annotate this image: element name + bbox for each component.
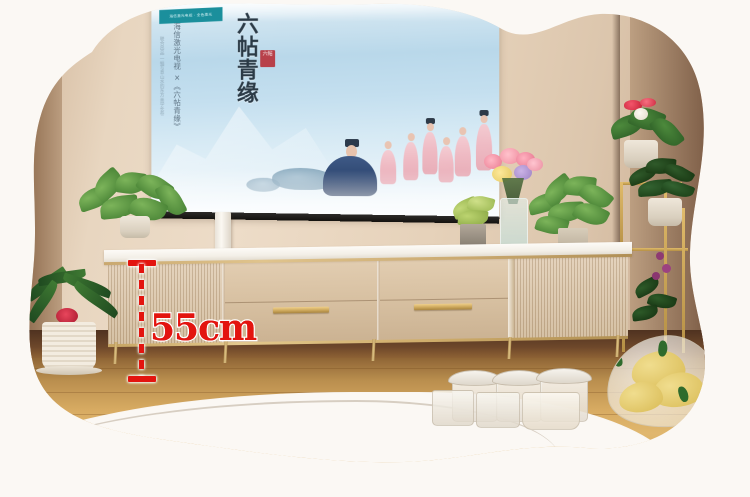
- glass-jar: [432, 390, 474, 426]
- dimension-cap-bottom: [128, 376, 156, 382]
- cabinet-leg: [507, 337, 511, 359]
- dancer-figure: [422, 132, 437, 174]
- living-room-scene: 海信激光电视 · 全色激光 联合出品 一幅写意山水的东方美学长卷 海信激光电视 …: [0, 0, 750, 497]
- glass-jar: [476, 392, 520, 428]
- panel-ribbed-door-right: [514, 256, 628, 340]
- blob-masked-photo: 海信激光电视 · 全色激光 联合出品 一幅写意山水的东方美学长卷 海信激光电视 …: [0, 0, 750, 497]
- red-bract: [640, 98, 656, 107]
- tv-clock: 22:37: [473, 5, 491, 12]
- dancer-head: [385, 141, 392, 149]
- low-shelf-orchid-plant: [630, 250, 700, 345]
- plant-pot: [120, 216, 150, 238]
- pot-saucer: [36, 366, 102, 375]
- tv-screen: 海信激光电视 · 全色激光 联合出品 一幅写意山水的东方美学长卷 海信激光电视 …: [151, 0, 499, 219]
- drawer-handle-right: [414, 303, 472, 310]
- ribbed-white-pot: [42, 322, 96, 370]
- potted-plant-left-on-floor-with-red-flower: [18, 278, 136, 396]
- dimension-dashed-line: [139, 264, 144, 380]
- white-bract: [634, 108, 648, 120]
- orchid-bud: [656, 252, 664, 260]
- dancer-head: [481, 115, 488, 123]
- dancer-head: [407, 133, 414, 141]
- dancer-robe: [422, 132, 437, 174]
- drawer-handle-left: [273, 307, 329, 314]
- glass-bowl: [522, 392, 580, 430]
- tv-stand: [215, 212, 231, 250]
- jar-lid: [536, 368, 592, 384]
- dark-green-rosette-plant-mid-shelf: [628, 156, 700, 236]
- television: 海信激光电视 · 全色激光 联合出品 一幅写意山水的东方美学长卷 海信激光电视 …: [150, 0, 498, 218]
- plant-pot: [648, 198, 682, 226]
- tv-corner-tag-label: 海信激光电视 · 全色激光: [169, 12, 212, 19]
- dimension-annotation: 55cm 55cm: [126, 258, 256, 383]
- tv-side-text-secondary: 联合出品 一幅写意山水的东方美学长卷: [157, 36, 164, 175]
- dancer-head: [459, 127, 466, 135]
- dancer-head: [426, 123, 433, 131]
- orchid-bud: [662, 264, 671, 273]
- dimension-label: 55cm: [150, 310, 256, 346]
- product-photo-stage: 海信激光电视 · 全色激光 联合出品 一幅写意山水的东方美学长卷 海信激光电视 …: [0, 0, 750, 497]
- glass-jars-foreground: [430, 360, 630, 440]
- leaf: [631, 304, 659, 321]
- cabinet-leg: [371, 339, 375, 361]
- dancer-head: [443, 137, 450, 145]
- tv-red-seal: 六帖: [260, 50, 275, 67]
- orchid-bud: [652, 272, 660, 280]
- tv-program-title: 六帖青缘: [234, 12, 256, 104]
- tv-side-text-primary: 海信激光电视 ×《六帖青缘》: [171, 23, 182, 172]
- potted-green-plant-left-on-cabinet: [78, 172, 194, 234]
- carnation: [527, 158, 543, 171]
